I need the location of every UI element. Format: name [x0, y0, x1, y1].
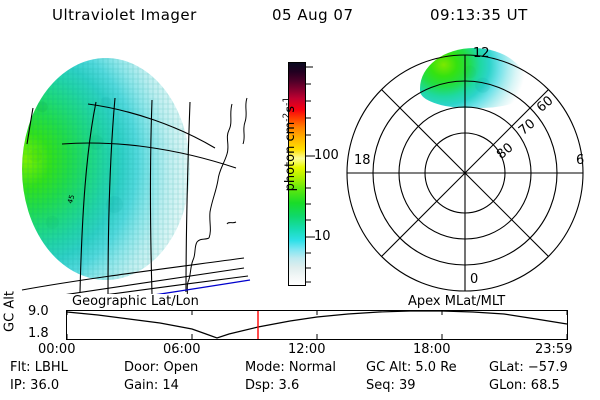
colorbar-tick-10: 10: [314, 229, 331, 244]
status-footer: Flt: LBHL Door: Open Mode: Normal GC Alt…: [0, 360, 600, 400]
mlt-label-6: 6: [576, 153, 584, 168]
terminator-line: [24, 280, 250, 294]
coastline-south: [185, 238, 209, 294]
xtick-0000: 00:00: [38, 342, 75, 357]
mlt-label-18: 18: [354, 153, 371, 168]
parallel-4: [22, 276, 248, 294]
observation-time: 09:13:35 UT: [430, 6, 528, 26]
colorbar-panel: 100 10 photon cm-2s-1: [258, 44, 336, 294]
status-mode: Mode: Normal: [245, 360, 336, 375]
geographic-image-panel: 45: [0, 44, 258, 294]
observation-date: 05 Aug 07: [272, 6, 354, 26]
xtick-2359: 23:59: [535, 342, 572, 357]
alt-trace: [67, 311, 567, 338]
meridian-3: [151, 100, 153, 294]
colorbar-ticks: [306, 62, 318, 288]
meridian-2: [108, 98, 115, 294]
gc-altitude-panel: GC Alt 9.0 1.8 Geographic Lat/Lon Apex M…: [0, 296, 600, 358]
apex-polar-panel: 12 18 6 0 60 70 80: [336, 40, 600, 298]
coastline-far: [243, 98, 247, 144]
mlt-label-0: 0: [470, 272, 478, 287]
meridian-4: [186, 102, 190, 292]
status-ip: IP: 36.0: [10, 378, 59, 393]
meridian-1: [80, 102, 96, 292]
page-title: Ultraviolet Imager: [52, 6, 197, 26]
gridline-segment: [27, 108, 33, 144]
coastline-north: [209, 104, 232, 238]
status-door: Door: Open: [124, 360, 198, 375]
status-glat: GLat: −57.9: [489, 360, 568, 375]
colorbar-axis-label: photon cm-2s-1: [282, 74, 298, 214]
polar-grid: [336, 40, 600, 298]
status-gain: Gain: 14: [124, 378, 179, 393]
status-glon: GLon: 68.5: [489, 378, 560, 393]
xtick-1200: 12:00: [288, 342, 325, 357]
coastline-inlet: [227, 222, 236, 224]
geographic-overlay: 45: [0, 44, 258, 294]
xtick-0600: 06:00: [163, 342, 200, 357]
mlt-label-12: 12: [473, 46, 490, 61]
parallel-3: [22, 258, 244, 290]
status-dsp: Dsp: 3.6: [245, 378, 299, 393]
status-gc-alt: GC Alt: 5.0 Re: [366, 360, 457, 375]
gridline-label: 45: [66, 194, 76, 205]
status-seq: Seq: 39: [366, 378, 416, 393]
xtick-1800: 18:00: [413, 342, 450, 357]
ultraviolet-imager-window: Ultraviolet Imager 05 Aug 07 09:13:35 UT: [0, 0, 600, 400]
status-flt: Flt: LBHL: [10, 360, 68, 375]
